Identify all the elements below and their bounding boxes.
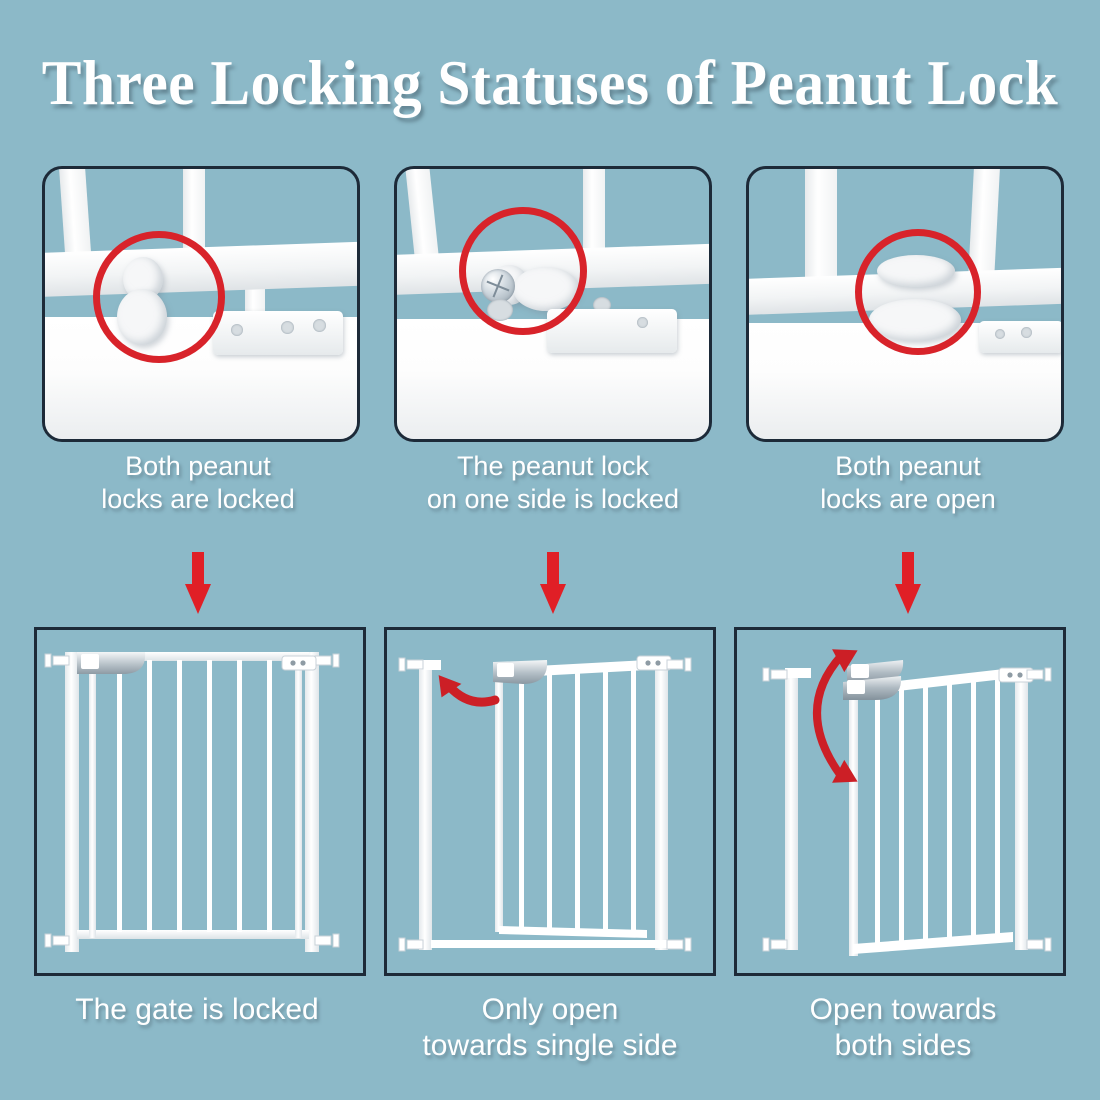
infographic-page: Three Locking Statuses of Peanut Lock bbox=[0, 0, 1100, 1100]
caption-line-1: The peanut lock bbox=[397, 450, 709, 483]
caption-line-2: locks are locked bbox=[42, 483, 354, 516]
gate-open-one-side-illustration bbox=[387, 630, 713, 973]
caption-line-2: towards single side bbox=[387, 1028, 713, 1064]
caption-line-2: locks are open bbox=[752, 483, 1064, 516]
caption-both-open: Both peanut locks are open bbox=[752, 450, 1064, 516]
down-arrow-icon bbox=[540, 552, 566, 614]
gate-panel-row bbox=[34, 627, 1066, 970]
peanut-lock-half-icon bbox=[397, 169, 709, 439]
photo-panel-one-side-locked bbox=[394, 166, 712, 442]
peanut-lock-locked-icon bbox=[45, 169, 357, 439]
caption-gate-both-sides: Open towards both sides bbox=[740, 992, 1066, 1064]
caption-line-2: on one side is locked bbox=[397, 483, 709, 516]
gate-panel-both-sides bbox=[734, 627, 1066, 976]
peanut-lock-open-icon bbox=[749, 169, 1061, 439]
caption-line-1: The gate is locked bbox=[34, 992, 360, 1028]
caption-line-1: Both peanut bbox=[752, 450, 1064, 483]
caption-one-side-locked: The peanut lock on one side is locked bbox=[397, 450, 709, 516]
down-arrow-icon bbox=[895, 552, 921, 614]
swing-arrow-single-icon bbox=[430, 667, 495, 702]
gate-panel-locked bbox=[34, 627, 366, 976]
photo-panel-both-locked bbox=[42, 166, 360, 442]
top-caption-row: Both peanut locks are locked The peanut … bbox=[42, 450, 1064, 516]
gate-open-both-sides-illustration bbox=[737, 630, 1063, 973]
arrow-cell-2 bbox=[397, 552, 709, 614]
caption-line-1: Both peanut bbox=[42, 450, 354, 483]
arrow-cell-1 bbox=[42, 552, 354, 614]
photo-panel-row bbox=[42, 166, 1064, 436]
caption-line-2: both sides bbox=[740, 1028, 1066, 1064]
caption-gate-single-side: Only open towards single side bbox=[387, 992, 713, 1064]
arrow-cell-3 bbox=[752, 552, 1064, 614]
bottom-caption-row: The gate is locked Only open towards sin… bbox=[34, 992, 1066, 1064]
caption-gate-locked: The gate is locked bbox=[34, 992, 360, 1064]
gate-panel-single-side bbox=[384, 627, 716, 976]
caption-both-locked: Both peanut locks are locked bbox=[42, 450, 354, 516]
down-arrow-icon bbox=[185, 552, 211, 614]
gate-closed-illustration bbox=[37, 630, 363, 973]
arrow-row bbox=[42, 552, 1064, 614]
photo-panel-both-open bbox=[746, 166, 1064, 442]
page-title: Three Locking Statuses of Peanut Lock bbox=[39, 46, 1062, 120]
caption-line-1: Only open bbox=[387, 992, 713, 1028]
caption-line-1: Open towards bbox=[740, 992, 1066, 1028]
